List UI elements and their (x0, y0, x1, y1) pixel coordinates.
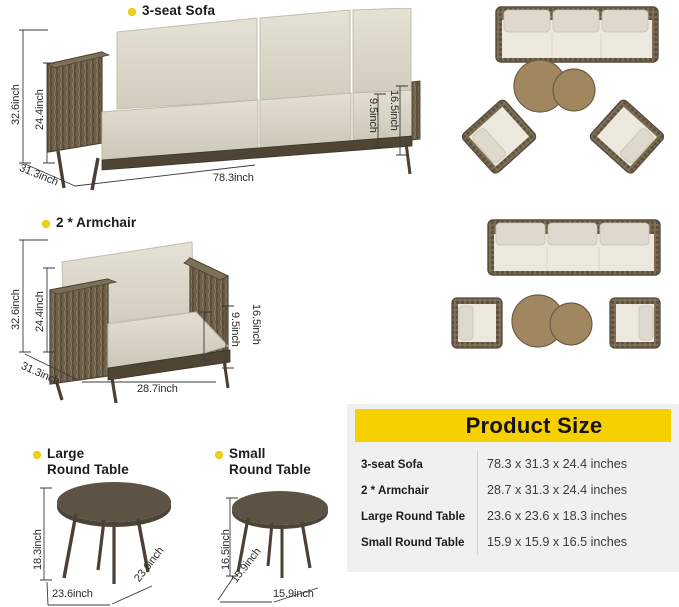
sofa-seat-height-dim: 16.5inch (388, 90, 400, 131)
large-table-width-dim: 23.6inch (52, 588, 93, 600)
layout1-sofa (496, 7, 658, 62)
product-size-panel: Product Size 3-seat Sofa 78.3 x 31.3 x 2… (347, 404, 679, 572)
small-table-label-text: Small Round Table (229, 446, 311, 479)
row-item-name: 3-seat Sofa (355, 458, 477, 471)
row-item-value: 23.6 x 23.6 x 18.3 inches (477, 503, 671, 529)
large-table-height-dim: 18.3inch (32, 529, 44, 570)
layout1-tables (514, 60, 595, 112)
small-table-width-dim: 15.9inch (273, 588, 314, 600)
sofa-height-overall-dim: 32.6inch (10, 84, 22, 125)
layout2-sofa (488, 220, 660, 275)
sofa-height-back-dim: 24.4inch (34, 89, 46, 130)
row-item-name: 2 * Armchair (355, 484, 477, 497)
row-item-name: Large Round Table (355, 510, 477, 523)
layout-arrangement-2 (440, 210, 679, 375)
layout1-armchair-right (588, 98, 665, 175)
yellow-dot-icon (215, 451, 223, 459)
table-row: Small Round Table 15.9 x 15.9 x 16.5 inc… (355, 529, 671, 555)
armchair-leg-height-dim: 9.5inch (229, 312, 241, 347)
product-size-table: 3-seat Sofa 78.3 x 31.3 x 24.4 inches 2 … (355, 451, 671, 555)
sofa-width-dim: 78.3inch (213, 172, 254, 184)
row-item-name: Small Round Table (355, 536, 477, 549)
row-item-value: 28.7 x 31.3 x 24.4 inches (477, 477, 671, 503)
layout2-tables (512, 295, 592, 347)
product-size-header: Product Size (355, 409, 671, 442)
armchair-width-dim: 28.7inch (137, 383, 178, 395)
layout2-armchair-right (610, 298, 660, 348)
armchair-height-overall-dim: 32.6inch (10, 289, 22, 330)
table-row: 2 * Armchair 28.7 x 31.3 x 24.4 inches (355, 477, 671, 503)
layout2-armchair-left (452, 298, 502, 348)
armchair-seat-height-dim: 16.5inch (250, 304, 262, 345)
table-row: Large Round Table 23.6 x 23.6 x 18.3 inc… (355, 503, 671, 529)
table-row: 3-seat Sofa 78.3 x 31.3 x 24.4 inches (355, 451, 671, 477)
row-item-value: 78.3 x 31.3 x 24.4 inches (477, 451, 671, 477)
product-size-title: Product Size (424, 413, 603, 439)
small-table-height-dim: 16.5inch (220, 529, 232, 570)
small-table-label: Small Round Table (215, 446, 311, 479)
layout1-armchair-left (460, 98, 537, 175)
large-table-dimension-lines (0, 470, 200, 607)
sofa-leg-height-dim: 9.5inch (367, 98, 379, 133)
sofa-dimension-lines (0, 0, 430, 200)
product-size-infographic: 3-seat Sofa (0, 0, 679, 607)
layout-arrangement-1 (448, 2, 679, 187)
yellow-dot-icon (33, 451, 41, 459)
armchair-height-back-dim: 24.4inch (34, 291, 46, 332)
row-item-value: 15.9 x 15.9 x 16.5 inches (477, 529, 671, 555)
